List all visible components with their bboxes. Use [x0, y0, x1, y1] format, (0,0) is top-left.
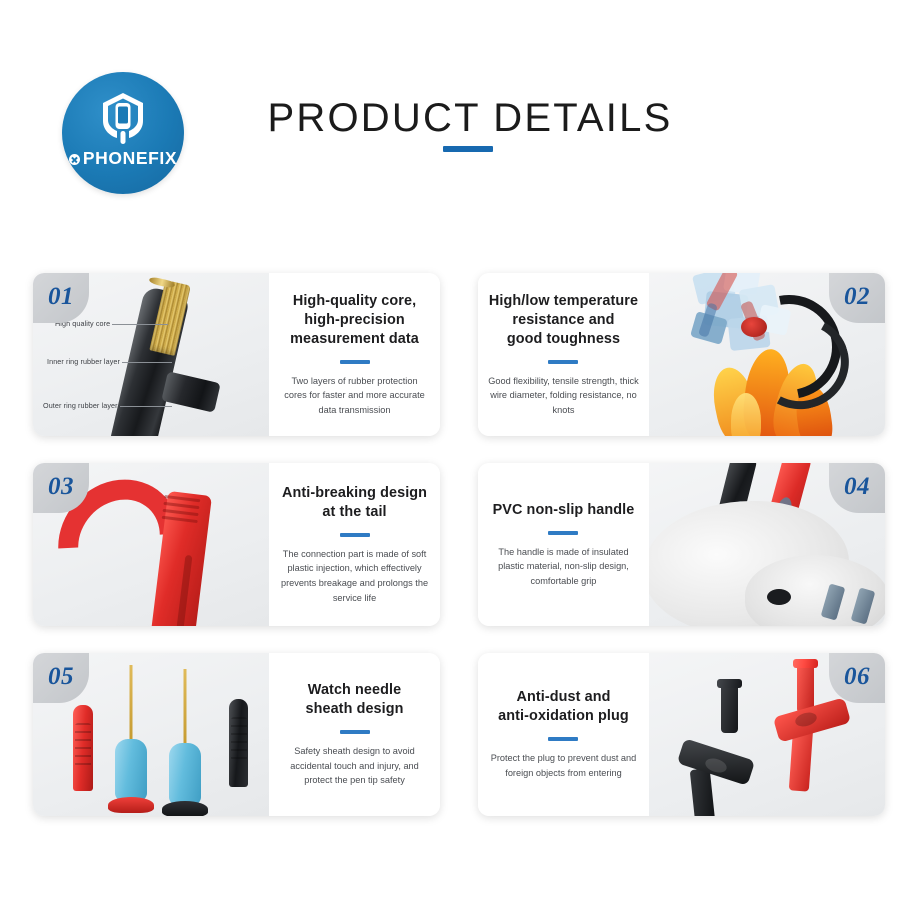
card-accent-rule [340, 730, 370, 734]
card-text-panel: Anti-dust and anti-oxidation plug Protec… [478, 653, 649, 816]
detail-card-06[interactable]: 06 Anti-dust and anti-oxidation plug Pro… [478, 653, 885, 816]
card-body-text: The handle is made of insulated plastic … [488, 545, 639, 589]
card-accent-rule [548, 531, 578, 535]
card-number: 05 [48, 663, 74, 691]
phonefix-shield-phone-icon [96, 90, 150, 146]
card-accent-rule [548, 737, 578, 741]
callout-inner-ring-rubber-layer: Inner ring rubber layer [47, 357, 172, 366]
card-heading: High-quality core, high-precision measur… [290, 292, 419, 349]
title-underline [443, 146, 493, 152]
red-dust-cap-icon [797, 659, 814, 713]
card-text-panel: Anti-breaking design at the tail The con… [269, 463, 440, 626]
card-text-panel: PVC non-slip handle The handle is made o… [478, 463, 649, 626]
product-details-grid: 01 High quality core Inner ring rubber l… [33, 273, 885, 818]
detail-card-04[interactable]: 04 PVC non-slip handle The handle is mad… [478, 463, 885, 626]
card-body-text: Good flexibility, tensile strength, thic… [488, 374, 639, 418]
card-accent-rule [548, 360, 578, 364]
callout-outer-ring-rubber-layer: Outer ring rubber layer [43, 401, 172, 410]
phonefix-wordmark: PHONEFIX [62, 148, 184, 169]
card-number: 04 [844, 473, 870, 501]
card-accent-rule [340, 533, 370, 537]
black-plug-stem [690, 768, 717, 816]
page-header: PHONEFIX PRODUCT DETAILS [0, 0, 900, 215]
card-heading: PVC non-slip handle [493, 501, 635, 520]
card-text-panel: High-quality core, high-precision measur… [269, 273, 440, 436]
card-body-text: Two layers of rubber protection cores fo… [279, 374, 430, 418]
card-heading: Watch needle sheath design [305, 681, 403, 719]
card-text-panel: High/low temperature resistance and good… [478, 273, 649, 436]
callout-high-quality-core: High quality core [55, 319, 168, 328]
card-heading: High/low temperature resistance and good… [489, 292, 638, 349]
detail-card-02[interactable]: 02 [478, 273, 885, 436]
card-heading: Anti-breaking design at the tail [282, 484, 427, 522]
card-body-text: Protect the plug to prevent dust and for… [488, 751, 639, 780]
rib-detail-icon [162, 495, 201, 523]
card-number: 01 [48, 283, 74, 311]
card-text-panel: Watch needle sheath design Safety sheath… [269, 653, 440, 816]
red-sheath-icon [73, 705, 93, 791]
card-number: 06 [844, 663, 870, 691]
page-title: PRODUCT DETAILS [252, 96, 688, 141]
logo-mark-icon [69, 154, 80, 165]
card-number: 02 [844, 283, 870, 311]
card-body-text: Safety sheath design to avoid accidental… [279, 744, 430, 788]
phonefix-logo: PHONEFIX [62, 72, 184, 194]
black-sheath-icon [229, 699, 248, 787]
card-number: 03 [48, 473, 74, 501]
detail-card-05[interactable]: 05 Watch needle sheath design Safety she… [33, 653, 440, 816]
card-body-text: The connection part is made of soft plas… [279, 547, 430, 605]
card-heading: Anti-dust and anti-oxidation plug [498, 688, 629, 726]
detail-card-01[interactable]: 01 High quality core Inner ring rubber l… [33, 273, 440, 436]
black-dust-cap-icon [721, 679, 738, 733]
brand-name: PHONEFIX [83, 148, 177, 168]
detail-card-03[interactable]: 03 Anti-breaking design at the tail The … [33, 463, 440, 626]
card-accent-rule [340, 360, 370, 364]
